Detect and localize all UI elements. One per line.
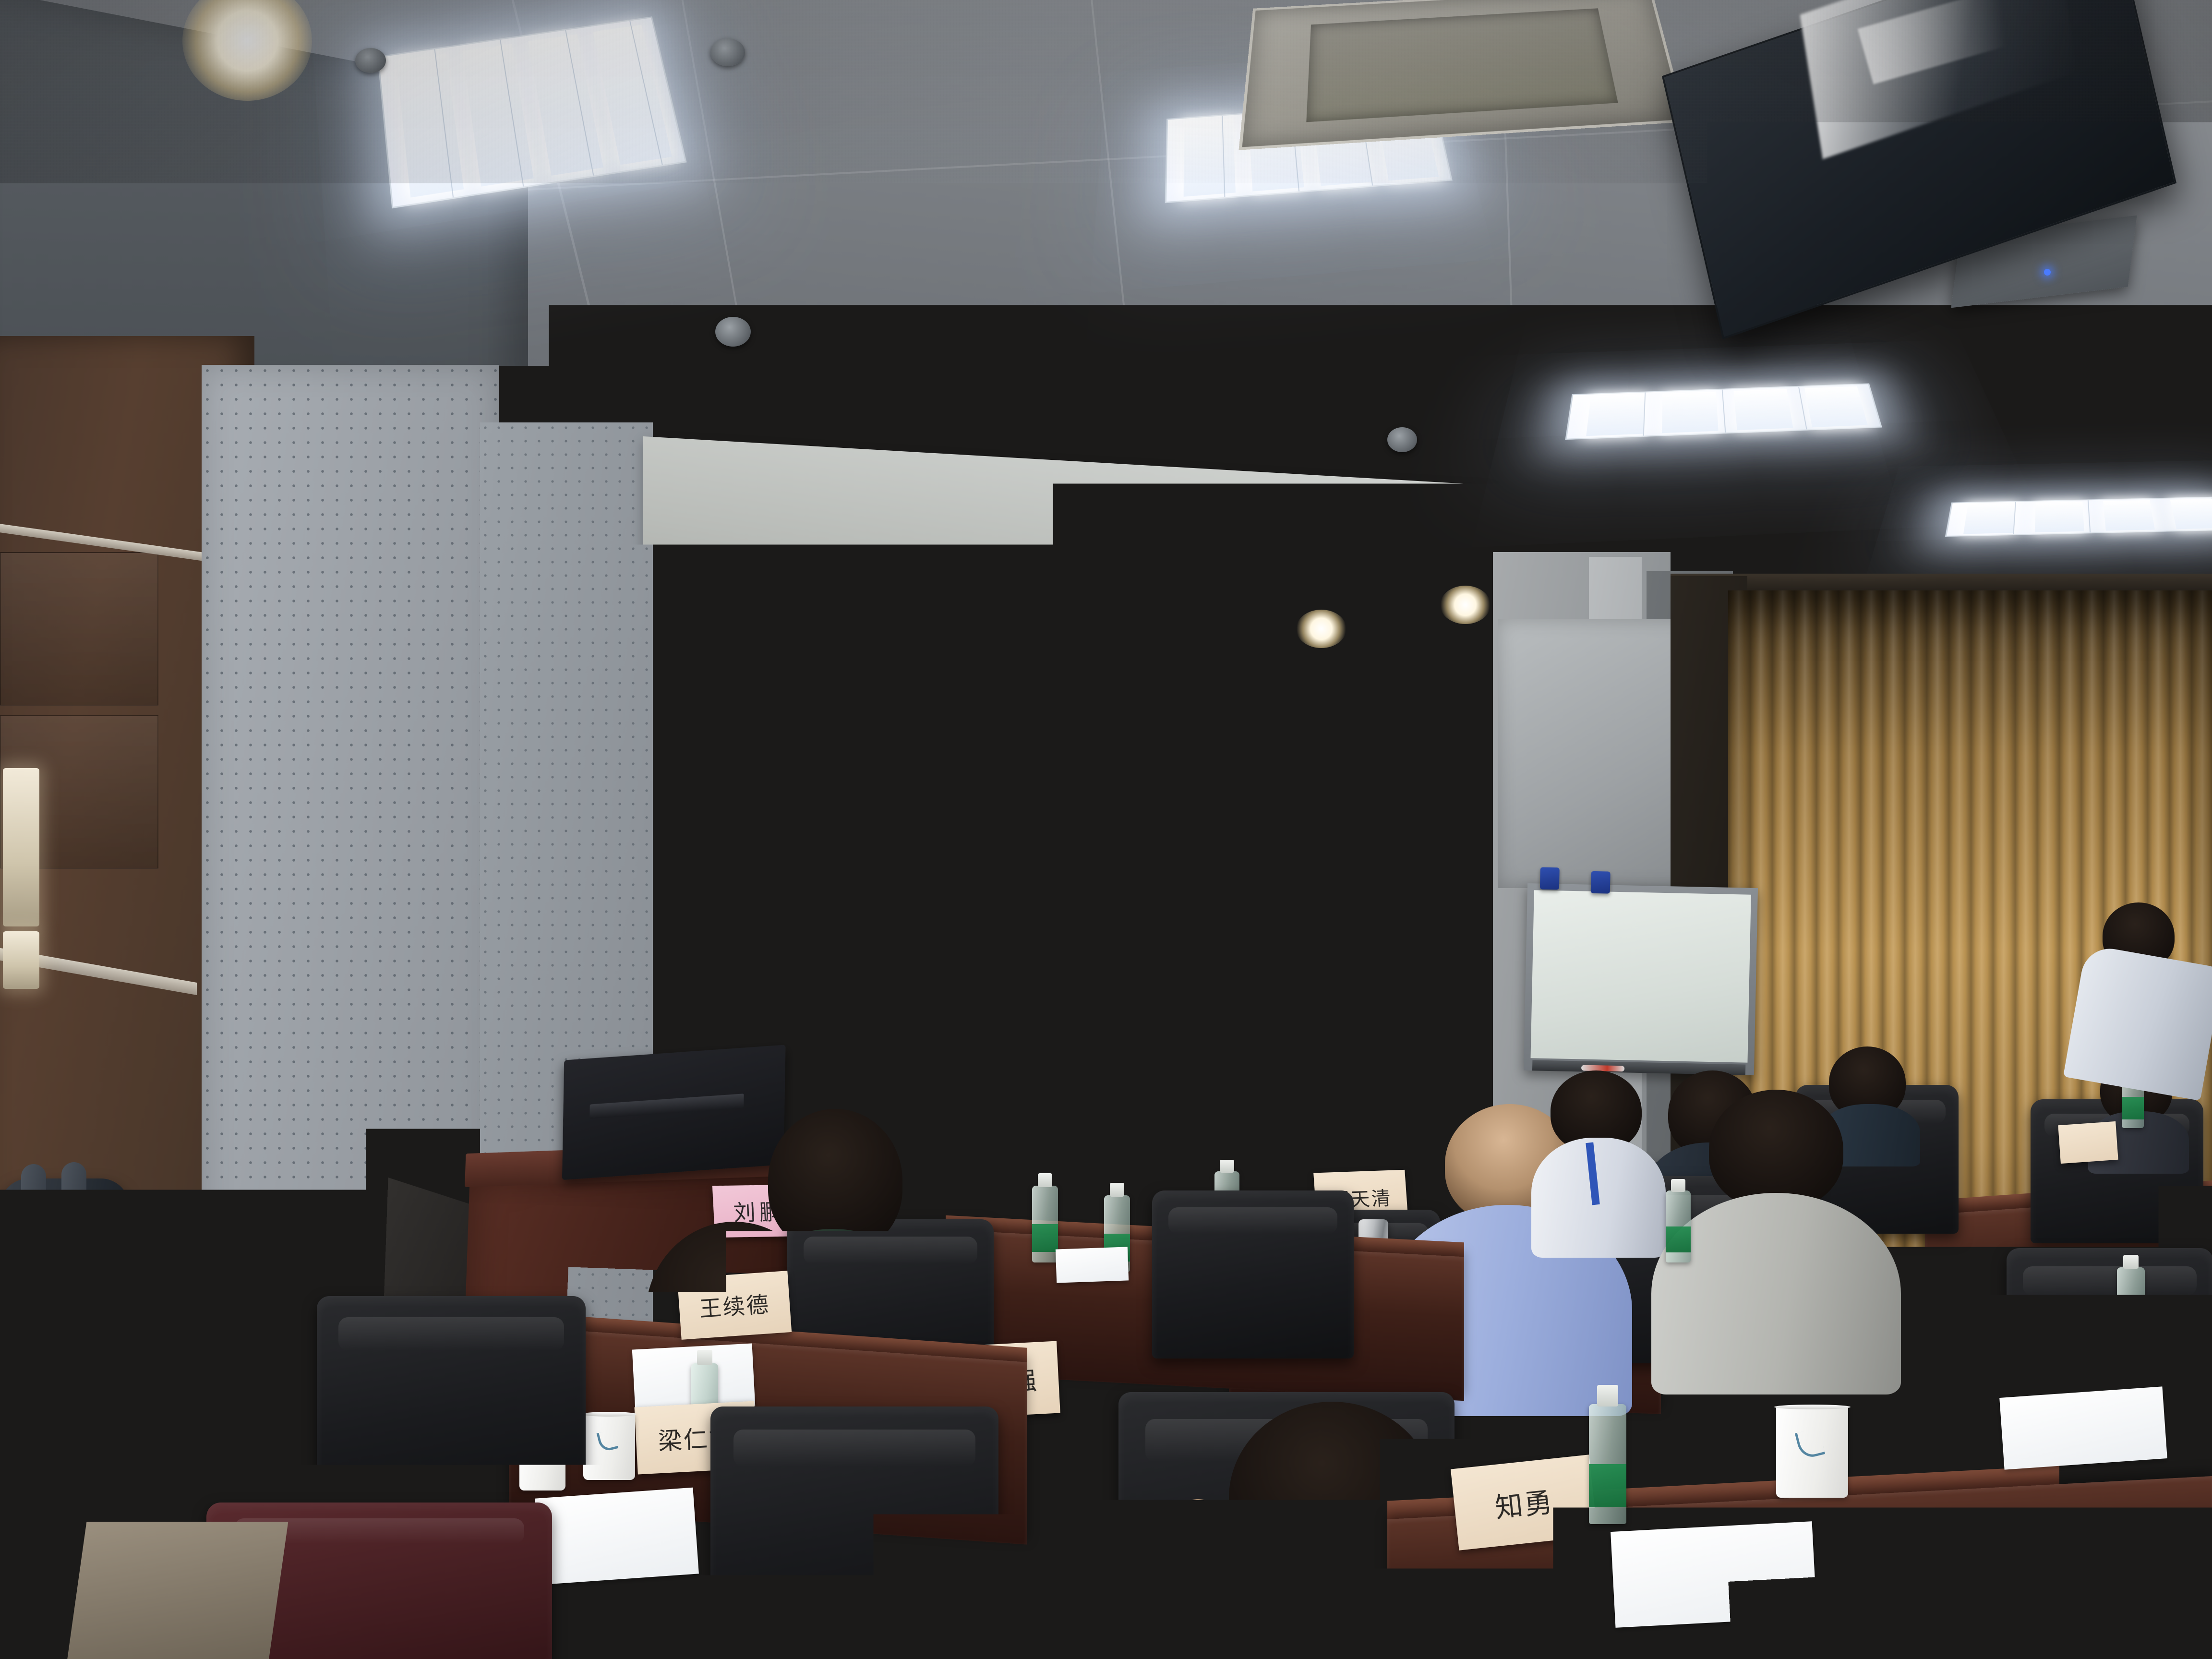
papers-left-foreground[interactable] [5, 1270, 84, 1303]
whiteboard[interactable] [1524, 883, 1758, 1075]
ceiling-speaker-1 [710, 38, 745, 66]
binder-clip-right[interactable] [1591, 871, 1611, 894]
attendee-white-shirt-lanyard [1531, 1070, 1666, 1253]
chair-left-mid-1[interactable] [317, 1296, 586, 1507]
ceiling-speaker-3 [1387, 427, 1417, 452]
bullet-marker-2: • [775, 846, 789, 899]
wall-panel-behind-whiteboard [1498, 619, 1699, 888]
bullet-marker-1: • [777, 772, 791, 825]
name-card-sheng: 胜 [1024, 1582, 1188, 1659]
ceiling-speaker-2 [715, 317, 751, 347]
slide-title: 赛前 [755, 709, 1393, 768]
document-center-1[interactable] [1056, 1247, 1129, 1283]
monitor-stand-bar [589, 1094, 744, 1118]
chair-center-1[interactable] [1152, 1190, 1354, 1358]
slide-bullet-1-text: 聂卫平：若机器和人比赛围棋，我认为机器是一点机会没有的。我对人工智能有极大的怀疑… [790, 773, 1361, 841]
attendee-standing-white-shirt [2074, 902, 2212, 1109]
slide-bullet-1: • 聂卫平：若机器和人比赛围棋，我认为机器是一点机会没有的。我对人工智能有极大的… [777, 772, 1361, 841]
water-bottle-front-2[interactable] [883, 1551, 936, 1659]
ceiling-speaker-4 [355, 48, 386, 73]
floor-left [67, 1522, 289, 1659]
slide-bullet-2-sep: ： [829, 852, 843, 868]
slide-bullet-1-body: 若机器和人比赛围棋，我认为机器是一点机会没有的。我对人工智能有极大的怀疑，你们都… [790, 779, 1361, 829]
eyeglasses-icon [870, 980, 928, 989]
ceiling-mounted-tv [1660, 0, 2212, 317]
name-card-far-right [2058, 1121, 2118, 1164]
binder-clip-left[interactable] [1540, 867, 1560, 890]
slide-bullet-2-text: 李世石：除非出现不可理喻的低级失误，否则我绝不会输。人工智能向人类发起挑战，还属… [788, 846, 1359, 914]
slide-bullet-2: • 李世石：除非出现不可理喻的低级失误，否则我绝不会输。人工智能向人类发起挑战，… [775, 846, 1359, 914]
conference-room-photo: 赛前 • 聂卫平：若机器和人比赛围棋，我认为机器是一点机会没有的。我对人工智能有… [0, 0, 2212, 1659]
attendee-black-tshirt-right [1651, 1248, 2083, 1659]
ceiling-light-panel-4 [1945, 497, 2212, 537]
tv-power-led [2044, 269, 2051, 276]
whiteboard-surface[interactable] [1531, 890, 1751, 1062]
slide-bullet-1-sep: ： [831, 779, 845, 795]
power-cables [58, 1450, 182, 1507]
water-bottle-center-1[interactable] [1032, 1186, 1058, 1262]
slide-bullet-1-speaker: 聂卫平 [791, 778, 832, 794]
water-bottle-front-1[interactable] [1589, 1404, 1626, 1524]
wall-sconce-left-2 [3, 931, 39, 989]
wall-sconce-left-1 [3, 768, 39, 926]
slide-bullet-2-speaker: 李世石 [789, 851, 830, 868]
slide-bullet-2-body: 除非出现不可理喻的低级失误，否则我绝不会输。人工智能向人类发起挑战，还属起步阶段… [788, 853, 1359, 894]
